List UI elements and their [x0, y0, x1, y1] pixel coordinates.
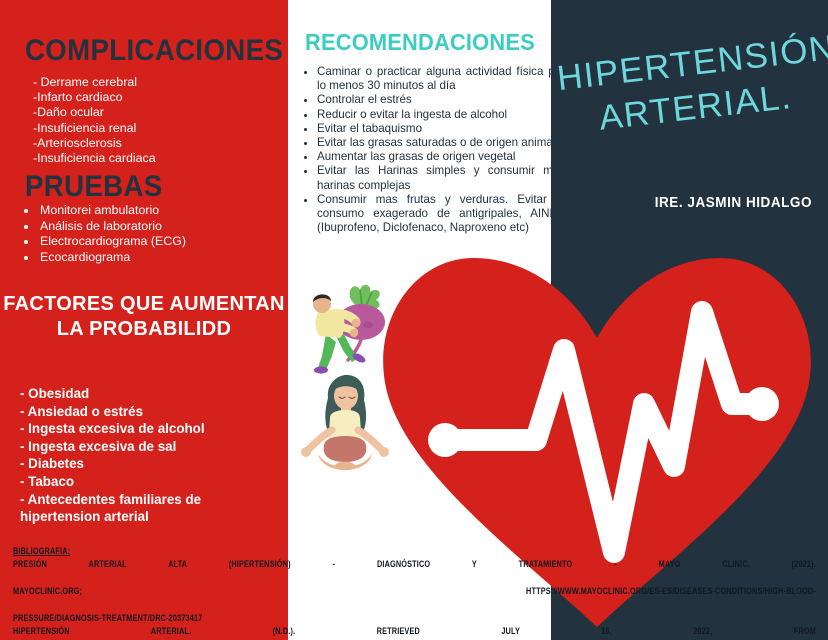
right-column: HIPERTENSIÓN ARTERIAL. IRE. JASMIN HIDAL…	[551, 0, 828, 640]
person-carrying-beet-illustration	[296, 278, 388, 376]
list-item: Controlar el estrés	[317, 93, 565, 107]
list-item: -Infarto cardiaco	[33, 90, 156, 105]
bibliography-line: PRESSURE/DIAGNOSIS-TREATMENT/DRC-2037341…	[13, 612, 816, 625]
list-item: - Tabaco	[20, 473, 270, 491]
list-item: -Insuficiencia renal	[33, 121, 156, 136]
complicaciones-heading: COMPLICACIONES	[25, 36, 283, 66]
pruebas-heading: PRUEBAS	[25, 172, 163, 202]
list-item: - Derrame cerebral	[33, 75, 156, 90]
list-item: Evitar las grasas saturadas o de origen …	[317, 136, 565, 150]
list-item: Consumir mas frutas y verduras. Evitar e…	[317, 193, 565, 236]
list-item: Evitar las Harinas simples y consumir ma…	[317, 164, 565, 192]
list-item: Análisis de laboratorio	[38, 219, 186, 235]
list-item: Evitar el tabaquismo	[317, 122, 565, 136]
bibliography: BIBLIOGRAFIA: PRESIÓN ARTERIAL ALTA (HIP…	[13, 545, 816, 640]
recomendaciones-heading: RECOMENDACIONES	[305, 31, 535, 54]
list-item: - Ansiedad o estrés	[20, 403, 270, 421]
list-item: Caminar o practicar alguna actividad fís…	[317, 65, 565, 93]
list-item: - Ingesta excesiva de alcohol	[20, 420, 270, 438]
bibliography-line: HIPERTENSIÓN ARTERIAL. (N.D.). RETRIEVED…	[13, 625, 816, 640]
bibliography-line: PRESIÓN ARTERIAL ALTA (HIPERTENSIÓN) - D…	[13, 558, 816, 585]
author-credit: IRE. JASMIN HIDALGO	[577, 194, 812, 211]
list-item: -Insuficiencia cardiaca	[33, 151, 156, 166]
factores-heading: FACTORES QUE AUMENTAN LA PROBABILIDD	[0, 292, 288, 342]
list-item: Electrocardiograma (ECG)	[38, 234, 186, 250]
page-title: HIPERTENSIÓN ARTERIAL.	[555, 27, 828, 145]
recomendaciones-list: Caminar o practicar alguna actividad fís…	[297, 65, 565, 235]
list-item: Ecocardiograma	[38, 250, 186, 266]
list-item: - Antecedentes familiares de hipertensio…	[20, 491, 270, 526]
complicaciones-list: - Derrame cerebral -Infarto cardiaco -Da…	[33, 75, 156, 166]
list-item: Reducir o evitar la ingesta de alcohol	[317, 108, 565, 122]
bibliography-heading: BIBLIOGRAFIA:	[13, 545, 816, 558]
factores-list: - Obesidad - Ansiedad o estrés - Ingesta…	[20, 385, 270, 526]
list-item: - Diabetes	[20, 455, 270, 473]
pruebas-list: Monitorei ambulatorio Análisis de labora…	[20, 203, 186, 265]
bibliography-line: MAYOCLINIC.ORG; HTTPS://WWW.MAYOCLINIC.O…	[13, 585, 816, 612]
list-item: Aumentar las grasas de origen vegetal	[317, 150, 565, 164]
infographic-poster: COMPLICACIONES - Derrame cerebral -Infar…	[0, 0, 828, 640]
list-item: -Arteriosclerosis	[33, 136, 156, 151]
list-item: -Daño ocular	[33, 105, 156, 120]
list-item: - Ingesta excesiva de sal	[20, 438, 270, 456]
list-item: - Obesidad	[20, 385, 270, 403]
list-item: Monitorei ambulatorio	[38, 203, 186, 219]
